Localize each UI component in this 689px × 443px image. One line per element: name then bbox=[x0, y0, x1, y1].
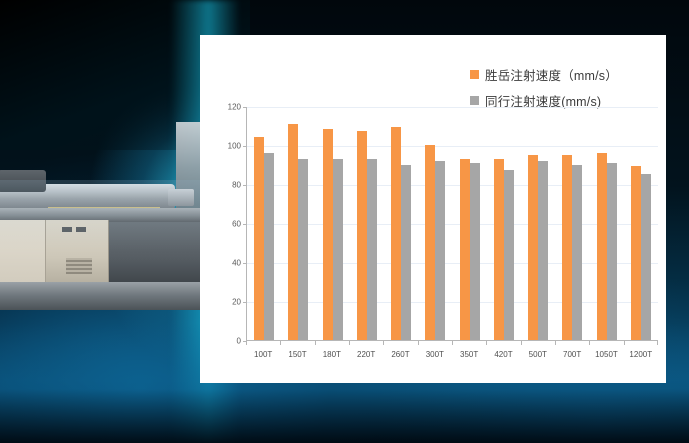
x-axis-tick-label: 180T bbox=[315, 341, 349, 359]
y-axis-tick-label: 20 bbox=[232, 298, 241, 307]
bar-group bbox=[555, 107, 589, 340]
bar-group bbox=[487, 107, 521, 340]
bar-peer[interactable] bbox=[470, 163, 480, 340]
x-axis-tick-label: 100T bbox=[246, 341, 280, 359]
legend-swatch-gray-icon bbox=[470, 96, 479, 105]
bar-peer[interactable] bbox=[572, 165, 582, 341]
x-axis-tick-label: 260T bbox=[383, 341, 417, 359]
bar-group bbox=[316, 107, 350, 340]
x-axis-end-tick bbox=[657, 341, 658, 345]
slide-canvas: 胜岳注射速度（mm/s） 同行注射速度(mm/s) 02040608010012… bbox=[0, 0, 689, 443]
bar-shengyue[interactable] bbox=[391, 127, 401, 340]
legend-label-series-1: 胜岳注射速度（mm/s） bbox=[485, 65, 618, 84]
bar-shengyue[interactable] bbox=[631, 166, 641, 340]
bar-shengyue[interactable] bbox=[597, 153, 607, 340]
bar-group bbox=[247, 107, 281, 340]
bar-group bbox=[281, 107, 315, 340]
x-axis-tick-label: 700T bbox=[555, 341, 589, 359]
y-axis-tick-label: 120 bbox=[228, 103, 241, 112]
bar-shengyue[interactable] bbox=[254, 137, 264, 340]
y-axis-tick-label: 40 bbox=[232, 259, 241, 268]
bar-shengyue[interactable] bbox=[562, 155, 572, 340]
bar-shengyue[interactable] bbox=[357, 131, 367, 340]
x-axis-tick-label: 420T bbox=[486, 341, 520, 359]
x-axis-tick-label: 500T bbox=[521, 341, 555, 359]
bar-group bbox=[453, 107, 487, 340]
bar-group bbox=[521, 107, 555, 340]
x-axis-tick-label: 150T bbox=[280, 341, 314, 359]
bar-peer[interactable] bbox=[333, 159, 343, 340]
bar-group bbox=[624, 107, 658, 340]
bar-peer[interactable] bbox=[641, 174, 651, 340]
y-axis-tick-label: 100 bbox=[228, 142, 241, 151]
plot-area: 020406080100120 bbox=[246, 107, 658, 341]
x-axis-tick-label: 300T bbox=[418, 341, 452, 359]
bar-group bbox=[384, 107, 418, 340]
x-axis-tick-label: 1200T bbox=[624, 341, 658, 359]
bar-group bbox=[418, 107, 452, 340]
x-axis-tick-label: 1050T bbox=[589, 341, 623, 359]
bar-group bbox=[590, 107, 624, 340]
x-axis-tick-label: 220T bbox=[349, 341, 383, 359]
bar-shengyue[interactable] bbox=[323, 129, 333, 340]
bar-groups bbox=[247, 107, 658, 340]
bar-peer[interactable] bbox=[298, 159, 308, 340]
legend-swatch-orange-icon bbox=[470, 70, 479, 79]
bar-shengyue[interactable] bbox=[528, 155, 538, 340]
bar-shengyue[interactable] bbox=[460, 159, 470, 340]
chart-legend: 胜岳注射速度（mm/s） 同行注射速度(mm/s) bbox=[470, 65, 618, 110]
y-axis-tick-label: 80 bbox=[232, 181, 241, 190]
bar-peer[interactable] bbox=[367, 159, 377, 340]
y-axis-tick-label: 0 bbox=[237, 337, 241, 346]
bar-peer[interactable] bbox=[435, 161, 445, 340]
bar-peer[interactable] bbox=[607, 163, 617, 340]
bar-peer[interactable] bbox=[401, 165, 411, 341]
bar-peer[interactable] bbox=[504, 170, 514, 340]
bar-shengyue[interactable] bbox=[425, 145, 435, 340]
bar-peer[interactable] bbox=[538, 161, 548, 340]
y-axis-tick-label: 60 bbox=[232, 220, 241, 229]
x-axis-tick-label: 350T bbox=[452, 341, 486, 359]
bar-group bbox=[350, 107, 384, 340]
bar-peer[interactable] bbox=[264, 153, 274, 340]
chart-panel: 胜岳注射速度（mm/s） 同行注射速度(mm/s) 02040608010012… bbox=[200, 35, 666, 383]
legend-item-series-1[interactable]: 胜岳注射速度（mm/s） bbox=[470, 65, 618, 84]
machine-reflection bbox=[0, 180, 230, 250]
bar-shengyue[interactable] bbox=[494, 159, 504, 340]
bar-shengyue[interactable] bbox=[288, 124, 298, 340]
x-axis: 100T150T180T220T260T300T350T420T500T700T… bbox=[246, 341, 658, 359]
